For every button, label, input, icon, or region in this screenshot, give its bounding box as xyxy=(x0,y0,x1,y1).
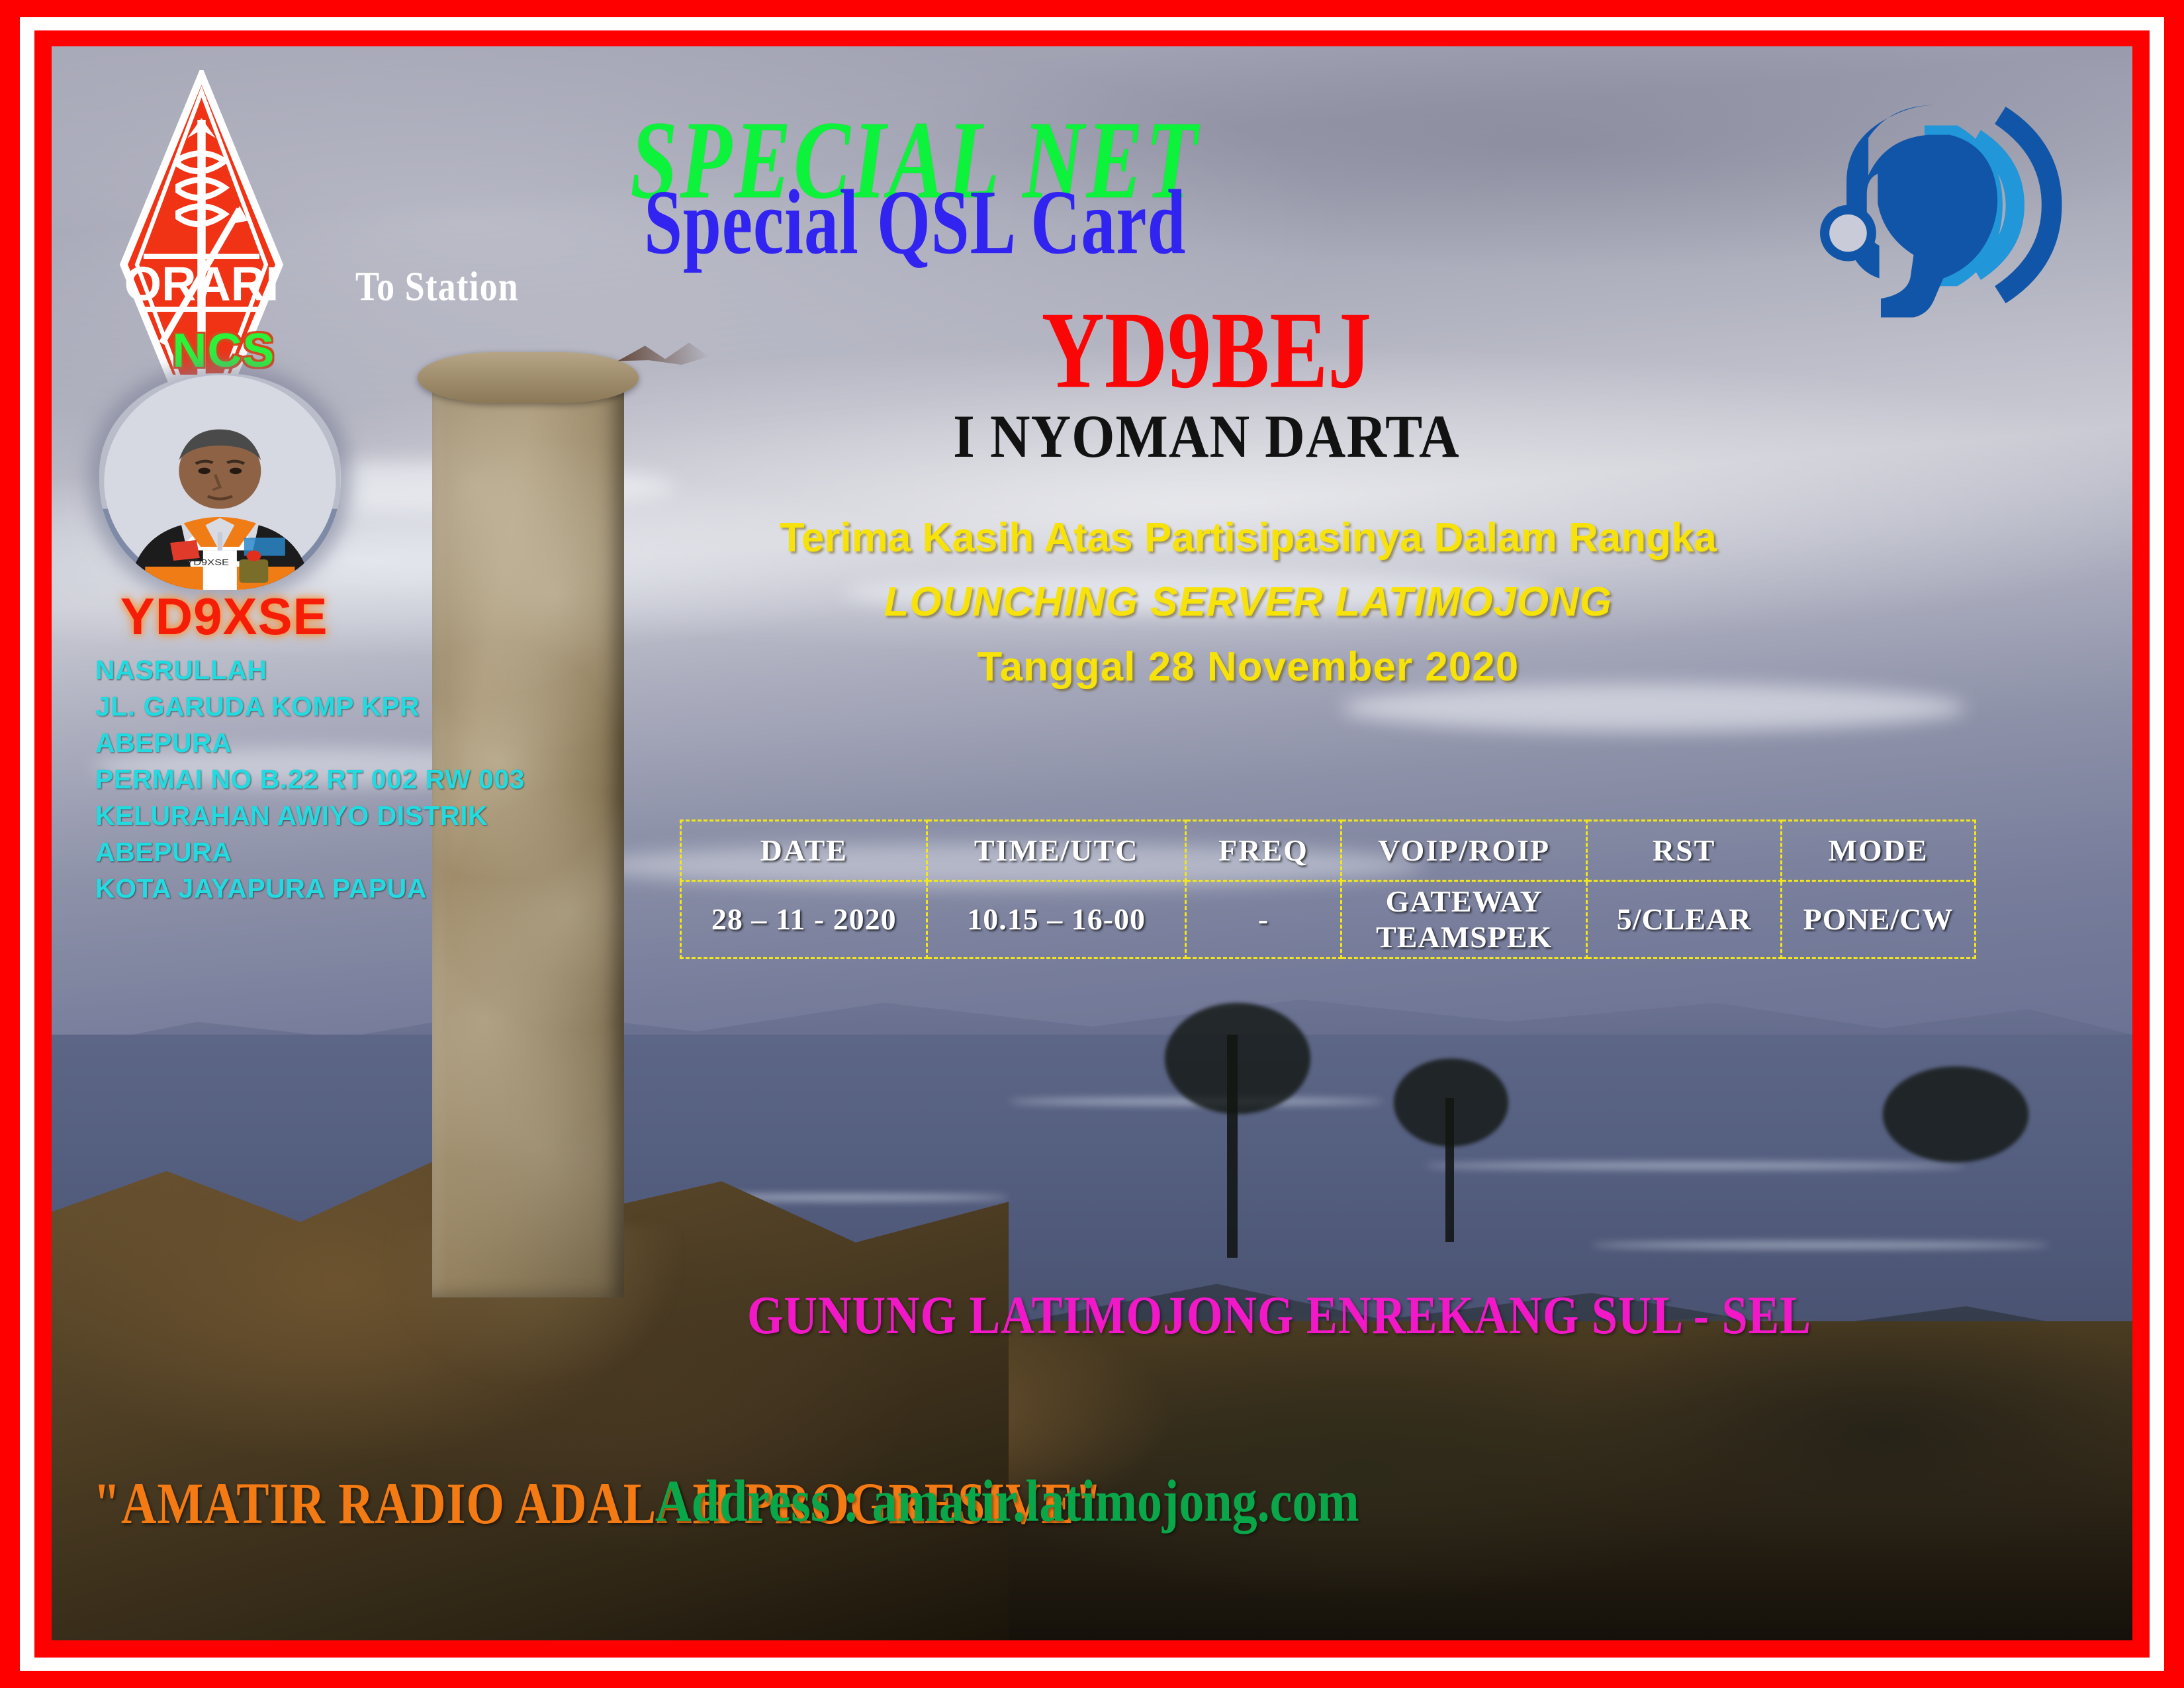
address-line: ABEPURA xyxy=(95,725,636,761)
ncs-label: NCS xyxy=(172,324,275,378)
thanks-line-1: Terima Kasih Atas Partisipasinya Dalam R… xyxy=(749,506,1747,571)
header-rst: RST xyxy=(1587,820,1781,880)
header-freq: FREQ xyxy=(1186,820,1342,880)
thanks-line-3: Tanggal 28 November 2020 xyxy=(749,635,1747,700)
card-background-photo: ORARI SPECIAL NET Spe xyxy=(52,46,2132,1640)
footer-website: Address : amatir.latimojong.com xyxy=(655,1472,1359,1531)
address-line: JL. GARUDA KOMP KPR xyxy=(95,688,636,725)
ncs-callsign: YD9XSE xyxy=(120,586,328,647)
address-line: ABEPURA xyxy=(95,834,636,870)
cell-voip-roip-line2: TEAMSPEK xyxy=(1343,919,1586,955)
log-table-header-row: DATE TIME/UTC FREQ VOIP/ROIP RST MODE xyxy=(681,820,1976,880)
cell-freq: - xyxy=(1186,880,1342,958)
address-line: KOTA JAYAPURA PAPUA xyxy=(95,870,636,907)
cell-voip-roip: GATEWAY TEAMSPEK xyxy=(1341,880,1587,958)
operator-name: I NYOMAN DARTA xyxy=(811,406,1602,467)
station-callsign: YD9BEJ xyxy=(852,295,1560,405)
header-time-utc: TIME/UTC xyxy=(927,820,1186,880)
cell-time-utc: 10.15 – 16-00 xyxy=(927,880,1186,958)
thanks-line-2: LOUNCHING SERVER LATIMOJONG xyxy=(749,570,1747,635)
header-mode: MODE xyxy=(1781,820,1975,880)
to-station-label: To Station xyxy=(355,263,519,310)
title-special-qsl-card: Special QSL Card xyxy=(250,177,1581,269)
header-voip-roip: VOIP/ROIP xyxy=(1341,820,1587,880)
address-line: KELURAHAN AWIYO DISTRIK xyxy=(95,798,636,834)
radio-net-logo xyxy=(1820,66,2070,344)
cell-voip-roip-line1: GATEWAY xyxy=(1343,884,1586,919)
ncs-operator-photo: YD9XSE xyxy=(99,373,341,590)
address-block: NASRULLAH JL. GARUDA KOMP KPR ABEPURA PE… xyxy=(95,652,636,907)
log-table: DATE TIME/UTC FREQ VOIP/ROIP RST MODE 28… xyxy=(680,820,1976,959)
cell-rst: 5/CLEAR xyxy=(1587,880,1781,958)
location-caption: GUNUNG LATIMOJONG ENREKANG SUL - SEL xyxy=(634,1289,1924,1343)
thanks-block: Terima Kasih Atas Partisipasinya Dalam R… xyxy=(749,506,1747,700)
header-date: DATE xyxy=(681,820,927,880)
address-line: NASRULLAH xyxy=(95,652,636,688)
log-table-row: 28 – 11 - 2020 10.15 – 16-00 - GATEWAY T… xyxy=(681,880,1976,958)
cell-date: 28 – 11 - 2020 xyxy=(681,880,927,958)
address-line: PERMAI NO B.22 RT 002 RW 003 xyxy=(95,761,636,798)
uniform-callsign-text: YD9XSE xyxy=(187,558,230,567)
cell-mode: PONE/CW xyxy=(1781,880,1975,958)
qsl-card: ORARI SPECIAL NET Spe xyxy=(0,0,2184,1688)
